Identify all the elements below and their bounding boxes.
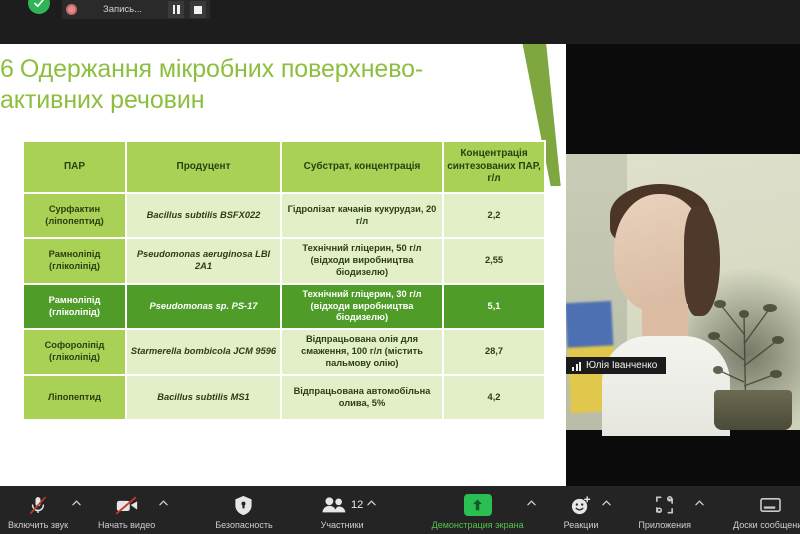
pause-recording-button[interactable] [168, 1, 184, 18]
reactions-label: Реакции [564, 520, 599, 530]
video-options-caret[interactable] [155, 500, 171, 506]
cell-concentration: 2,2 [443, 193, 545, 238]
cell-substrate: Відпрацьована олія для смаження, 100 г/л… [281, 329, 443, 375]
table-row: Ліпопептид Bacillus subtilis MS1 Відпрац… [23, 375, 545, 420]
start-video-button[interactable]: Начать видео [98, 486, 155, 530]
cell-producer: Pseudomonas aeruginosa LBI 2A1 [126, 238, 281, 284]
surfactant-table-wrapper: ПАР Продуцент Субстрат, концентрація Кон… [22, 140, 544, 421]
table-row: Сурфактин (ліпопептид) Bacillus subtilis… [23, 193, 545, 238]
cell-par: Софороліпід (гліколіпід) [23, 329, 126, 375]
cell-par: Рамноліпід (гліколіпід) [23, 284, 126, 330]
whiteboard-label: Доски сообщений [733, 520, 800, 530]
mute-audio-label: Включить звук [8, 520, 68, 530]
cell-producer: Bacillus subtilis BSFX022 [126, 193, 281, 238]
cell-substrate: Технічний гліцерин, 50 г/л (відходи виро… [281, 238, 443, 284]
participant-name-label: Юлія Іванченко [566, 357, 666, 374]
slide-number: 6 [0, 54, 14, 85]
column-header-concentration: Концентрація синтезованих ПАР, г/л [443, 141, 545, 193]
participants-button[interactable]: 12 Участники [321, 486, 364, 530]
cell-concentration: 5,1 [443, 284, 545, 330]
participant-video-tile[interactable]: Юлія Іванченко [566, 44, 800, 486]
video-feed [566, 154, 800, 430]
reactions-button[interactable]: Реакции [564, 486, 599, 530]
table-row: Софороліпід (гліколіпід) Starmerella bom… [23, 329, 545, 375]
recording-bar: Запись... [62, 0, 210, 19]
whiteboard-icon [759, 494, 782, 516]
shared-screen-slide: 6Одержання мікробних поверхнево-активних… [0, 44, 566, 486]
cell-substrate: Гідролізат качанів кукурудзи, 20 г/л [281, 193, 443, 238]
column-header-substrate: Субстрат, концентрація [281, 141, 443, 193]
stop-icon [194, 6, 202, 14]
zoom-meeting-window: Запись... 6Одержання мікробних поверхнев… [0, 0, 800, 534]
cell-par: Сурфактин (ліпопептид) [23, 193, 126, 238]
cell-producer: Pseudomonas sp. PS-17 [126, 284, 281, 330]
table-header-row: ПАР Продуцент Субстрат, концентрація Кон… [23, 141, 545, 193]
share-options-caret[interactable] [524, 500, 540, 506]
microphone-muted-icon [28, 494, 48, 516]
slide-title-text: Одержання мікробних поверхнево-активних … [0, 55, 423, 114]
security-button[interactable]: Безопасность [215, 486, 272, 530]
whiteboard-button[interactable]: Доски сообщений [733, 486, 800, 530]
surfactant-table: ПАР Продуцент Субстрат, концентрація Кон… [22, 140, 546, 421]
participants-options-caret[interactable] [364, 500, 380, 506]
cell-par: Рамноліпід (гліколіпід) [23, 238, 126, 284]
column-header-producer: Продуцент [126, 141, 281, 193]
share-screen-label: Демонстрация экрана [432, 520, 524, 530]
cell-concentration: 28,7 [443, 329, 545, 375]
page-title: 6Одержання мікробних поверхнево-активних… [0, 54, 486, 115]
recording-status-text: Запись... [83, 4, 162, 15]
column-header-par: ПАР [23, 141, 126, 193]
table-row-highlighted: Рамноліпід (гліколіпід) Pseudomonas sp. … [23, 284, 545, 330]
participants-label: Участники [321, 520, 364, 530]
cell-concentration: 4,2 [443, 375, 545, 420]
participants-icon: 12 [321, 494, 363, 516]
camera-muted-icon [115, 494, 139, 516]
apps-button[interactable]: Приложения [638, 486, 691, 530]
table-row: Рамноліпід (гліколіпід) Pseudomonas aeru… [23, 238, 545, 284]
record-dot-icon [66, 4, 77, 15]
participants-count: 12 [351, 499, 363, 511]
participant-name-text: Юлія Іванченко [586, 360, 657, 371]
reactions-options-caret[interactable] [598, 500, 614, 506]
start-video-label: Начать видео [98, 520, 155, 530]
video-background-pot [714, 390, 792, 430]
meeting-toolbar: Включить звук Начать видео [0, 486, 800, 534]
audio-options-caret[interactable] [68, 500, 84, 506]
cell-substrate: Відпрацьована автомобільна олива, 5% [281, 375, 443, 420]
mute-audio-button[interactable]: Включить звук [8, 486, 68, 530]
pause-icon [173, 5, 180, 14]
share-screen-icon [464, 494, 492, 516]
cell-producer: Starmerella bombicola JCM 9596 [126, 329, 281, 375]
cell-producer: Bacillus subtilis MS1 [126, 375, 281, 420]
share-screen-button[interactable]: Демонстрация экрана [432, 486, 524, 530]
security-label: Безопасность [215, 520, 272, 530]
cell-concentration: 2,55 [443, 238, 545, 284]
apps-icon [654, 494, 675, 516]
signal-bars-icon [572, 361, 581, 371]
green-check-icon [28, 0, 50, 14]
reactions-icon [570, 494, 591, 516]
cell-par: Ліпопептид [23, 375, 126, 420]
cell-substrate: Технічний гліцерин, 30 г/л (відходи виро… [281, 284, 443, 330]
shield-icon [234, 494, 253, 516]
apps-options-caret[interactable] [691, 500, 707, 506]
stop-recording-button[interactable] [190, 1, 206, 18]
apps-label: Приложения [638, 520, 691, 530]
